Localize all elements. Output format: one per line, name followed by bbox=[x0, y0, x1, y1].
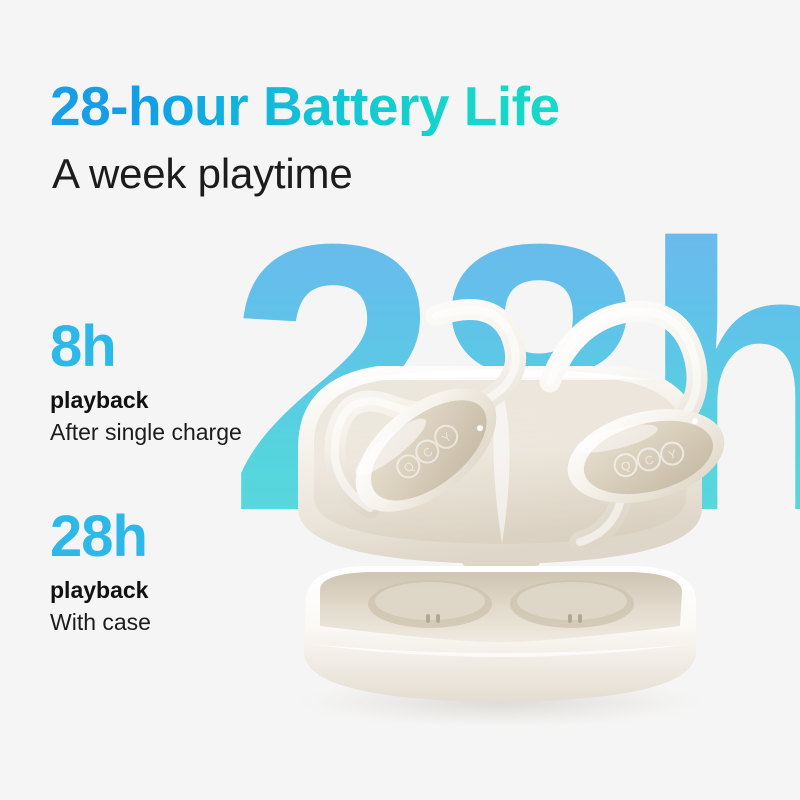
page-subtitle: A week playtime bbox=[52, 150, 352, 198]
stat-block-with-case: 28h playback With case bbox=[50, 508, 151, 636]
stat-label-playback: playback bbox=[50, 388, 242, 413]
charging-case-base bbox=[304, 566, 696, 702]
stat-value-28h: 28h bbox=[50, 508, 151, 566]
stat-description-after-single-charge: After single charge bbox=[50, 420, 242, 445]
marketing-banner: 28h 28-hour Battery Life A week playtime… bbox=[0, 0, 800, 800]
stat-block-single-charge: 8h playback After single charge bbox=[50, 318, 242, 446]
stat-description-with-case: With case bbox=[50, 610, 151, 635]
product-image: Q C Y bbox=[250, 270, 750, 730]
stat-label-playback: playback bbox=[50, 578, 151, 603]
page-title: 28-hour Battery Life bbox=[50, 78, 560, 136]
stat-value-8h: 8h bbox=[50, 318, 242, 376]
